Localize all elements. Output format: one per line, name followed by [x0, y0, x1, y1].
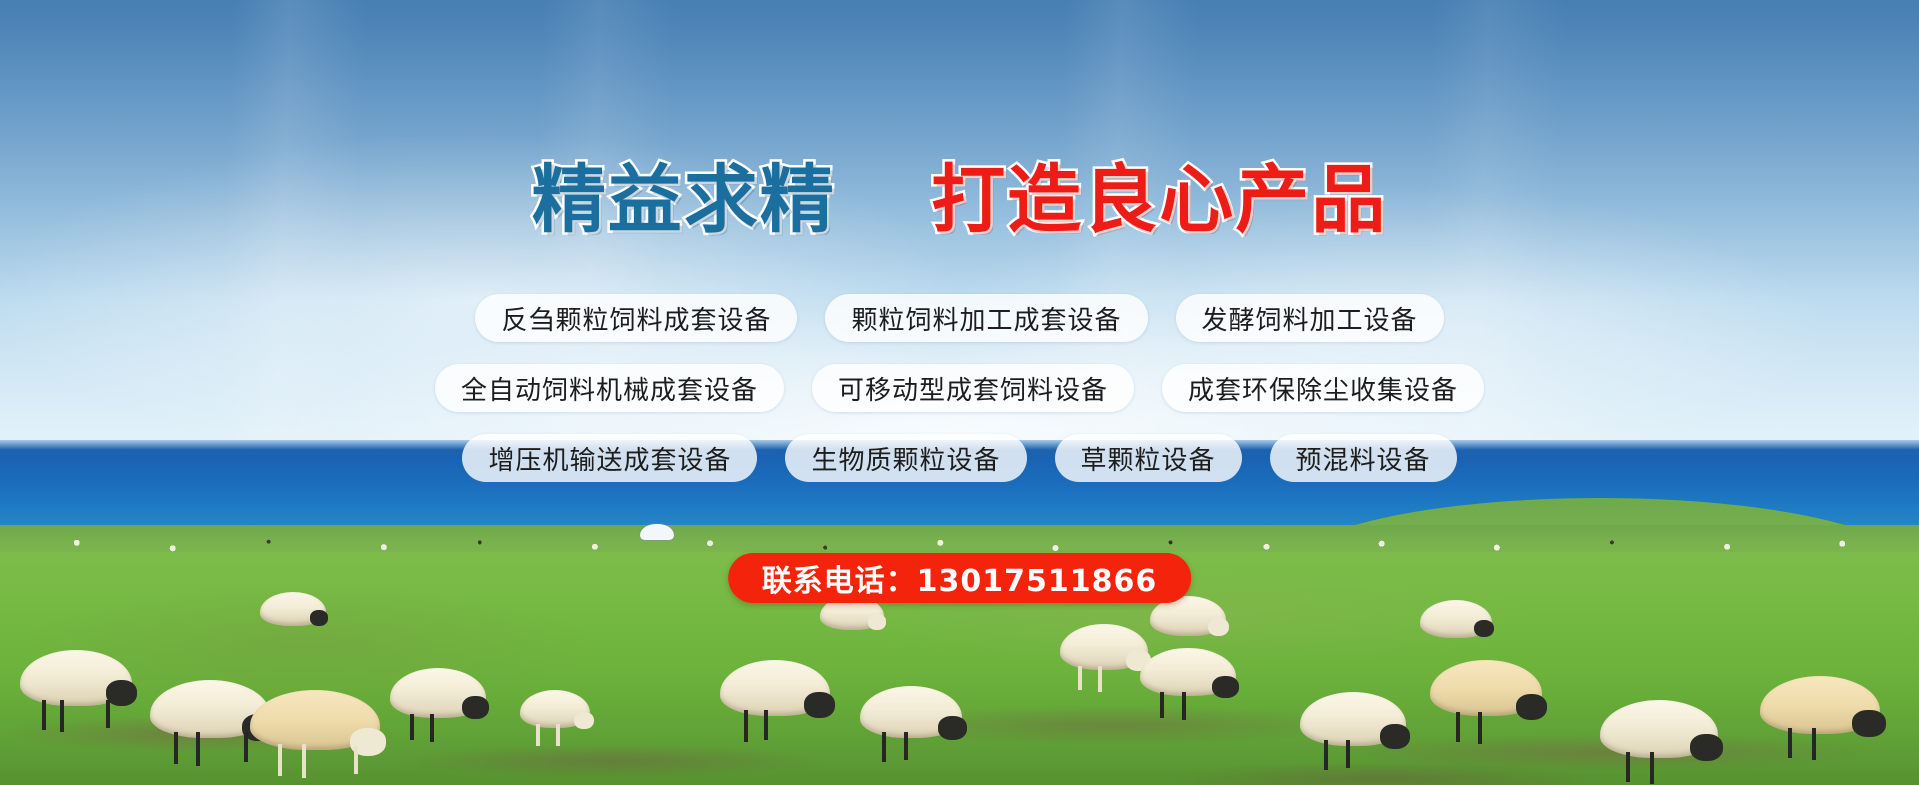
- category-pill-grass-pellet-equipment[interactable]: 草颗粒设备: [1055, 434, 1242, 482]
- category-pill-fermented-feed-equipment[interactable]: 发酵饲料加工设备: [1176, 294, 1444, 342]
- category-pill-automatic-feed-machinery-line[interactable]: 全自动饲料机械成套设备: [435, 364, 784, 412]
- page-title: 精益求精 打造良心产品: [0, 140, 1919, 247]
- category-pill-pellet-feed-processing-line[interactable]: 颗粒饲料加工成套设备: [825, 294, 1147, 342]
- banner-content: 精益求精 打造良心产品 反刍颗粒饲料成套设备 颗粒饲料加工成套设备 发酵饲料加工…: [0, 0, 1919, 785]
- category-pill-biomass-pellet-equipment[interactable]: 生物质颗粒设备: [785, 434, 1026, 482]
- category-pill-premix-equipment[interactable]: 预混料设备: [1270, 434, 1457, 482]
- contact-phone-badge[interactable]: 联系电话：13017511866: [728, 553, 1192, 603]
- category-row-2: 全自动饲料机械成套设备 可移动型成套饲料设备 成套环保除尘收集设备: [0, 364, 1919, 412]
- headline-accent: 打造良心产品: [931, 157, 1387, 243]
- category-row-1: 反刍颗粒饲料成套设备 颗粒饲料加工成套设备 发酵饲料加工设备: [0, 294, 1919, 342]
- category-pill-mobile-feed-equipment[interactable]: 可移动型成套饲料设备: [812, 364, 1134, 412]
- headline-primary: 精益求精: [532, 157, 836, 243]
- category-pill-dust-collection-equipment[interactable]: 成套环保除尘收集设备: [1162, 364, 1484, 412]
- category-pill-booster-conveying-line[interactable]: 增压机输送成套设备: [462, 434, 757, 482]
- category-row-3: 增压机输送成套设备 生物质颗粒设备 草颗粒设备 预混料设备: [0, 434, 1919, 482]
- category-pill-group: 反刍颗粒饲料成套设备 颗粒饲料加工成套设备 发酵饲料加工设备 全自动饲料机械成套…: [0, 294, 1919, 504]
- promo-banner: 精益求精 打造良心产品 反刍颗粒饲料成套设备 颗粒饲料加工成套设备 发酵饲料加工…: [0, 0, 1919, 785]
- category-pill-ruminant-pellet-feed-line[interactable]: 反刍颗粒饲料成套设备: [475, 294, 797, 342]
